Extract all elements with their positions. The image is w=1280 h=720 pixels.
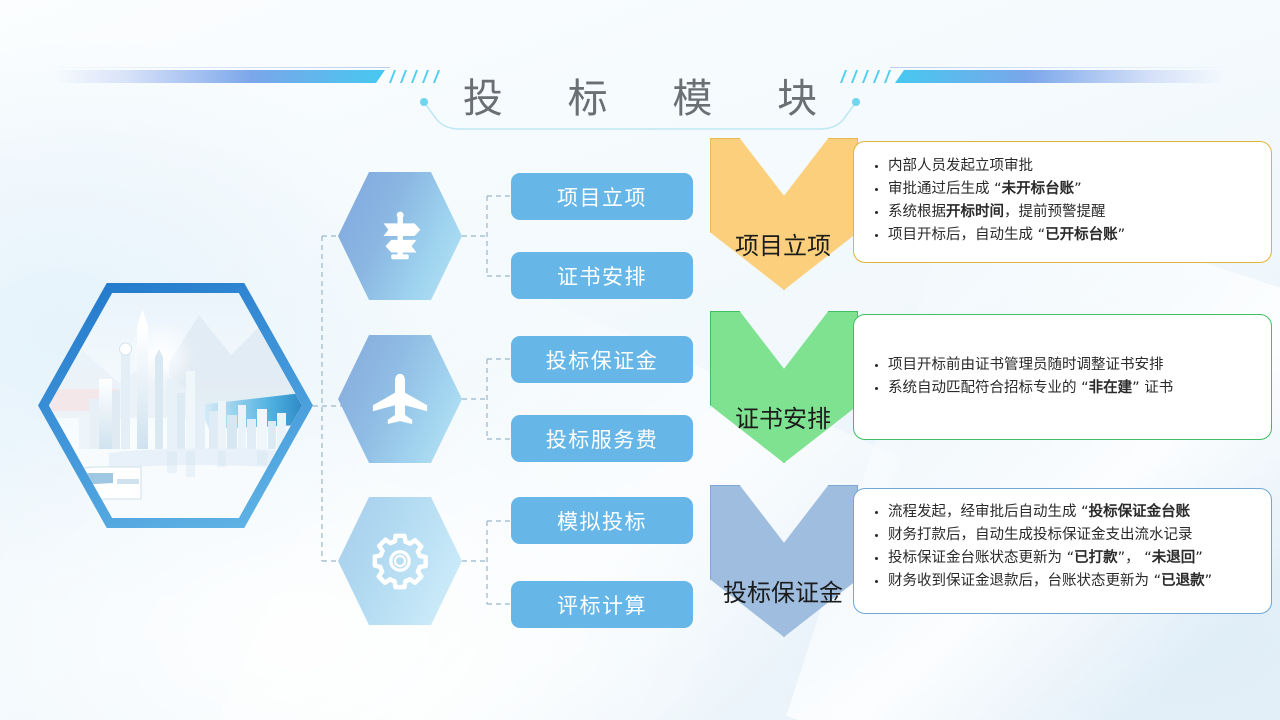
bullet-item: 内部人员发起立项审批 xyxy=(872,155,1271,178)
pill-button-bid-service-fee[interactable]: 投标服务费 xyxy=(511,415,693,462)
bullet-item: 财务收到保证金退款后，台账状态更新为 “已退款” xyxy=(872,570,1271,593)
stage-description-box: 内部人员发起立项审批审批通过后生成 “未开标台账”系统根据开标时间，提前预警提醒… xyxy=(853,141,1272,263)
airplane-icon xyxy=(338,335,462,463)
page-title: 投 标 模 块 xyxy=(0,74,1280,124)
chevron-label: 证书安排 xyxy=(710,399,856,434)
bullet-list: 内部人员发起立项审批审批通过后生成 “未开标台账”系统根据开标时间，提前预警提醒… xyxy=(872,155,1271,247)
bullet-item: 投标保证金台账状态更新为 “已打款”， “未退回” xyxy=(872,547,1271,570)
pill-button-project-initiation[interactable]: 项目立项 xyxy=(511,173,693,220)
stage-description-box: 项目开标前由证书管理员随时调整证书安排系统自动匹配符合招标专业的 “非在建” 证… xyxy=(853,314,1272,440)
chevron-label: 项目立项 xyxy=(710,226,856,261)
header-hairline-right xyxy=(890,67,1240,68)
pill-button-bid-deposit[interactable]: 投标保证金 xyxy=(511,336,693,383)
background-sheen-right xyxy=(786,183,1280,720)
bullet-item: 系统自动匹配符合招标专业的 “非在建” 证书 xyxy=(872,377,1271,400)
branch-icon-hexagon-1 xyxy=(338,172,462,300)
chevron-label: 投标保证金 xyxy=(710,573,856,608)
bullet-item: 审批通过后生成 “未开标台账” xyxy=(872,178,1271,201)
gear-icon xyxy=(338,497,462,625)
pill-button-certificate-arrangement[interactable]: 证书安排 xyxy=(511,252,693,299)
bullet-item: 流程发起，经审批后自动生成 “投标保证金台账 xyxy=(872,501,1271,524)
stage-description-box: 流程发起，经审批后自动生成 “投标保证金台账财务打款后，自动生成投标保证金支出流… xyxy=(853,488,1272,614)
header-hairline-left xyxy=(40,67,390,68)
slide-header: 投 标 模 块 xyxy=(0,34,1280,120)
bullet-item: 系统根据开标时间，提前预警提醒 xyxy=(872,201,1271,224)
chevron-shape xyxy=(710,311,858,463)
pill-button-bid-evaluation-calc[interactable]: 评标计算 xyxy=(511,581,693,628)
branch-icon-hexagon-2 xyxy=(338,335,462,463)
pill-button-mock-bidding[interactable]: 模拟投标 xyxy=(511,497,693,544)
bullet-item: 项目开标后，自动生成 “已开标台账” xyxy=(872,224,1271,247)
chevron-shape xyxy=(710,485,858,637)
branch-icon-hexagon-3 xyxy=(338,497,462,625)
background-sheen-left xyxy=(217,247,904,720)
chevron-shape xyxy=(710,138,858,290)
slide-canvas: 投 标 模 块 xyxy=(0,0,1280,720)
signpost-icon xyxy=(338,172,462,300)
bullet-list: 项目开标前由证书管理员随时调整证书安排系统自动匹配符合招标专业的 “非在建” 证… xyxy=(872,354,1271,400)
bullet-item: 财务打款后，自动生成投标保证金支出流水记录 xyxy=(872,524,1271,547)
main-hexagon-image xyxy=(38,283,313,528)
bullet-list: 流程发起，经审批后自动生成 “投标保证金台账财务打款后，自动生成投标保证金支出流… xyxy=(872,501,1271,593)
bullet-item: 项目开标前由证书管理员随时调整证书安排 xyxy=(872,354,1271,377)
